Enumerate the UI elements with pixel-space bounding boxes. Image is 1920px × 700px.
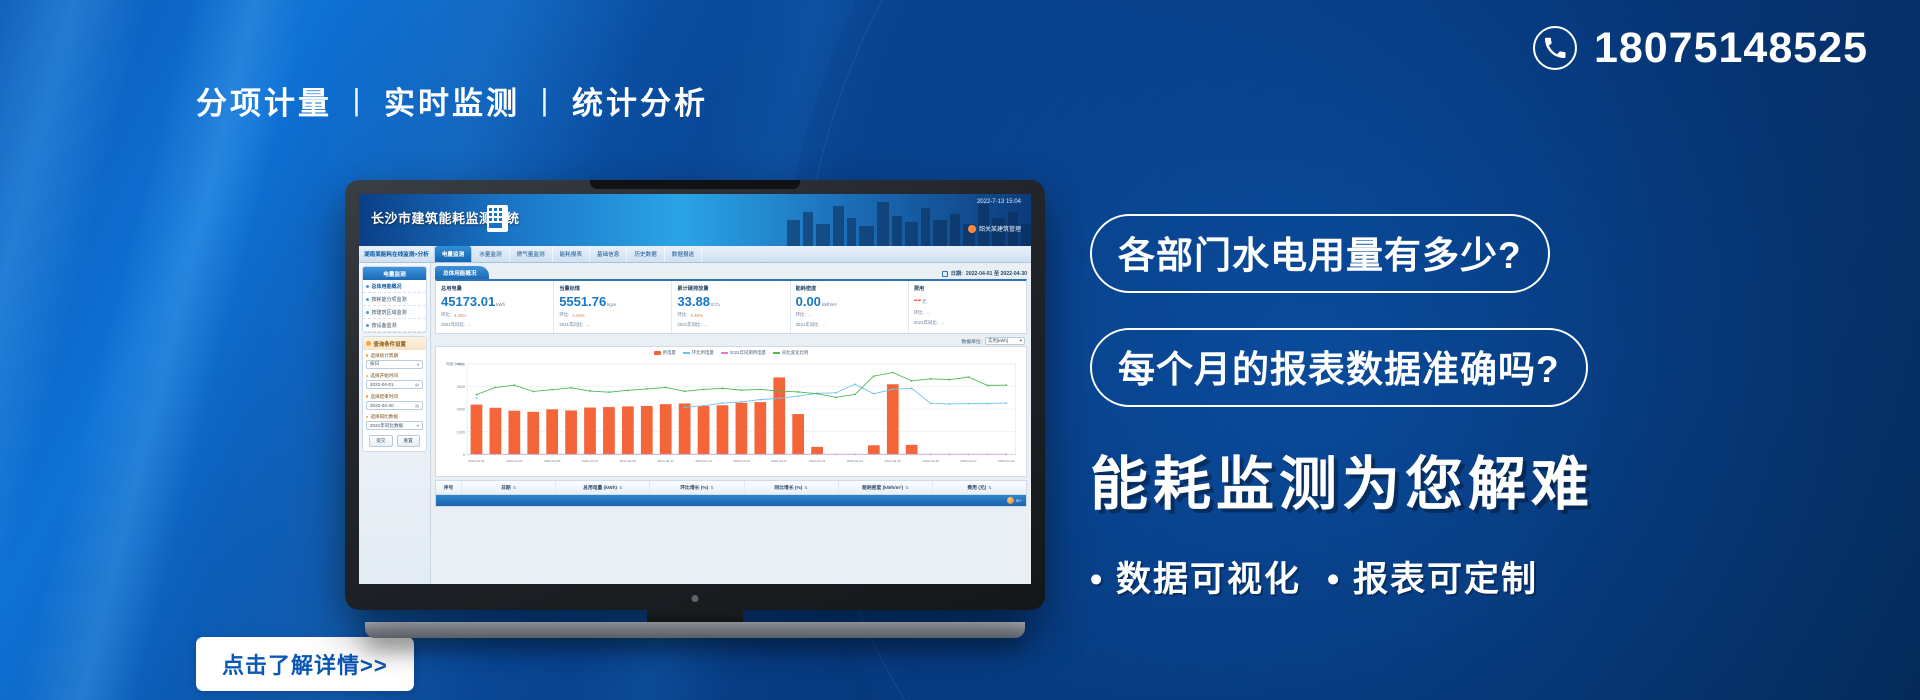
monitor-power-dot	[692, 595, 699, 602]
avatar	[968, 225, 976, 233]
sidebar-item-label: 按耗能分项监测	[372, 296, 407, 303]
svg-text:2022-04-11: 2022-04-11	[658, 459, 674, 463]
calendar-icon: ▤	[415, 382, 419, 387]
sort-icon[interactable]: ⇅	[804, 485, 807, 490]
browser-icon	[1007, 497, 1014, 504]
table-header-cell[interactable]: 总用电量 (kWh)⇅	[556, 481, 650, 494]
legend-swatch	[683, 352, 690, 354]
data-table: 序号日期⇅总用电量 (kWh)⇅环比增长 (%)⇅同比增长 (%)⇅能耗密度 (…	[435, 480, 1027, 507]
query-select-period[interactable]: 按日 ▾	[366, 360, 423, 369]
promo-banner: 18075148525 分项计量丨实时监测丨统计分析 各部门水电用量有多少? 每…	[0, 0, 1920, 700]
query-panel: 查询条件设置 选择统计周期 按日 ▾	[362, 336, 427, 452]
question-pill-1: 各部门水电用量有多少?	[1090, 214, 1550, 293]
chart-plot: 01000200030004000电量 (kWh)2022-04-012022-…	[440, 358, 1022, 474]
sidebar-item-by-device[interactable]: 按设备监测	[363, 319, 426, 332]
app-header: 长沙市建筑能耗监测系统 2022-7-13 15:04 韶关某建筑管理	[359, 194, 1031, 246]
sort-icon[interactable]: ⇅	[513, 485, 516, 490]
stat-value: --元	[914, 295, 1021, 306]
panel-tab-overview[interactable]: 总体用能概况	[435, 266, 489, 279]
stat-card-total-electricity: 总用电量 45173.01kWh 环比:4.46% 2021年同比:--	[436, 281, 554, 333]
phone-number: 18075148525	[1594, 27, 1868, 70]
bullet-icon	[366, 395, 368, 397]
table-header-cell[interactable]: 能耗密度 (kWh/m²)⇅	[839, 481, 933, 494]
date-range-display: 日期: 2022-04-01 至 2022-04-30	[942, 270, 1027, 279]
legend-label: 2021年同期用电量	[730, 350, 766, 356]
reset-button[interactable]: 重置	[397, 435, 420, 447]
query-label-start: 选择开始时间	[363, 371, 426, 381]
main-content: 总体用能概况 日期: 2022-04-01 至 2022-04-30 总用电量 …	[431, 263, 1031, 584]
sidebar-item-label: 按设备监测	[372, 322, 397, 329]
nav-tab-basic-info[interactable]: 基础信息	[590, 246, 627, 262]
calendar-icon: ▤	[415, 403, 419, 408]
sidebar: 电量监测 总体用能概况 按耗能分项监测 按建筑区域监	[359, 263, 431, 584]
banner-bullets: • 数据可视化• 报表可定制	[1090, 551, 1538, 602]
nav-tab-history[interactable]: 历史数据	[627, 246, 664, 262]
query-panel-header: 查询条件设置	[363, 337, 426, 350]
nav-brand: 湖南某能耗在线监测>分析	[359, 246, 435, 262]
table-header-cell[interactable]: 序号	[436, 481, 462, 494]
bullet-icon	[366, 354, 368, 356]
chevron-down-icon: ▾	[417, 423, 419, 428]
stat-value: 33.88tCO₂	[677, 295, 784, 308]
chevron-down-icon: ▾	[417, 362, 419, 367]
table-header-label: 日期	[501, 484, 511, 491]
monitor-notch	[590, 180, 800, 189]
stat-compare-yoy: 2021年同比:--	[677, 322, 784, 328]
svg-text:2000: 2000	[457, 408, 465, 412]
legend-swatch	[721, 352, 728, 354]
banner-headline: 能耗监测为您解难	[1090, 437, 1594, 521]
nav-tab-water[interactable]: 水量监测	[472, 246, 509, 262]
query-input-start-date[interactable]: 2022-04-01 ▤	[366, 380, 423, 389]
nav-tab-reports[interactable]: 能耗报表	[553, 246, 590, 262]
stat-compare-mom: 环比:4.46%	[441, 312, 548, 318]
svg-text:2022-04-25: 2022-04-25	[922, 459, 939, 463]
banner-kicker: 分项计量丨实时监测丨统计分析	[196, 78, 708, 123]
unit-select[interactable]: 实用[kWh] ▾	[985, 337, 1025, 345]
legend-item[interactable]: 同比变化比例	[773, 350, 808, 356]
bulb-icon	[366, 341, 371, 346]
submit-button[interactable]: 提交	[369, 435, 392, 447]
table-header-row: 序号日期⇅总用电量 (kWh)⇅环比增长 (%)⇅同比增长 (%)⇅能耗密度 (…	[436, 481, 1026, 495]
sidebar-header: 电量监测	[363, 267, 426, 280]
kicker-item-3: 统计分析	[572, 86, 708, 121]
app-user-name: 韶关某建筑管理	[979, 224, 1021, 233]
browser-badge: IE+	[1016, 498, 1022, 503]
svg-text:2022-04-17: 2022-04-17	[771, 459, 788, 463]
monitor-bezel: 长沙市建筑能耗监测系统 2022-7-13 15:04 韶关某建筑管理	[345, 180, 1045, 610]
legend-label: 同比变化比例	[782, 350, 808, 356]
legend-label: 环比用电量	[692, 350, 714, 356]
sidebar-item-by-category[interactable]: 按耗能分项监测	[363, 293, 426, 306]
stat-compare-mom: 环比:--	[796, 312, 903, 318]
stat-value: 45173.01kWh	[441, 295, 548, 308]
svg-text:2022-04-23: 2022-04-23	[885, 459, 902, 463]
svg-text:2022-04-13: 2022-04-13	[695, 459, 712, 463]
stat-card-standard-coal: 当量标煤 5551.76kgce 环比:4.46% 2021年同比:--	[554, 281, 672, 333]
bullet-icon	[366, 324, 369, 327]
stat-value: 0.00kWh/m²	[796, 295, 903, 308]
sort-icon[interactable]: ⇅	[905, 485, 908, 490]
chart-panel: 用电量环比用电量2021年同期用电量同比变化比例 010002000300040…	[435, 346, 1027, 477]
bullet-icon	[366, 298, 369, 301]
table-header-label: 费用 (元)	[967, 484, 986, 491]
query-input-end-date[interactable]: 2022-04-30 ▤	[366, 401, 423, 410]
table-header-cell[interactable]: 环比增长 (%)⇅	[650, 481, 744, 494]
legend-swatch	[654, 351, 661, 355]
stat-card-density: 能耗密度 0.00kWh/m² 环比:-- 2021年同比:--	[791, 281, 909, 333]
svg-text:2022-04-19: 2022-04-19	[809, 459, 826, 463]
app-nav: 湖南某能耗在线监测>分析 电量监测 水量监测 燃气量监测 能耗报表 基础信息 历…	[359, 246, 1031, 263]
kicker-item-1: 分项计量	[196, 86, 332, 121]
stat-compare-mom: 环比:--	[914, 310, 1021, 316]
query-label-yoy: 选择同比数据	[363, 412, 426, 422]
stat-compare-yoy: 2021年同比:--	[796, 322, 903, 328]
svg-text:2022-04-07: 2022-04-07	[582, 459, 599, 463]
kicker-sep-1: 丨	[332, 78, 384, 123]
decor-light-sweep-1	[0, 0, 200, 700]
nav-tab-electricity[interactable]: 电量监测	[435, 246, 472, 262]
sort-icon[interactable]: ⇅	[710, 485, 713, 490]
legend-item[interactable]: 2021年同期用电量	[721, 350, 766, 356]
svg-text:2022-04-05: 2022-04-05	[544, 459, 561, 463]
app-logo-icon	[487, 205, 508, 232]
stat-card-cost: 费用 --元 环比:-- 2021年同比:--	[909, 281, 1026, 333]
sidebar-item-label: 总体用能概况	[372, 283, 402, 290]
stat-compare-mom: 环比:4.46%	[559, 312, 666, 318]
table-header-label: 同比增长 (%)	[774, 484, 802, 491]
panel-tabbar: 总体用能概况 日期: 2022-04-01 至 2022-04-30	[435, 266, 1027, 279]
table-header-cell[interactable]: 费用 (元)⇅	[933, 481, 1026, 494]
stat-card-carbon: 累计碳排放量 33.88tCO₂ 环比:4.46% 2021年同比:--	[672, 281, 790, 333]
svg-text:1000: 1000	[457, 430, 465, 434]
unit-label: 数据单位:	[961, 338, 982, 345]
svg-text:2022-04-15: 2022-04-15	[733, 459, 750, 463]
chart-unit-bar: 数据单位: 实用[kWh] ▾	[435, 334, 1027, 346]
svg-text:2022-04-27: 2022-04-27	[960, 459, 977, 463]
table-header-label: 环比增长 (%)	[680, 484, 708, 491]
monitor-mockup: 长沙市建筑能耗监测系统 2022-7-13 15:04 韶关某建筑管理	[345, 180, 1045, 610]
query-actions: 提交 重置	[363, 432, 426, 451]
legend-item[interactable]: 环比用电量	[683, 350, 714, 356]
query-label-period: 选择统计周期	[363, 350, 426, 360]
stat-compare-mom: 环比:4.46%	[677, 312, 784, 318]
bullet-icon	[366, 285, 369, 288]
svg-text:2022-04-29: 2022-04-29	[998, 459, 1015, 463]
legend-label: 用电量	[663, 350, 676, 356]
sidebar-item-by-area[interactable]: 按建筑区域监测	[363, 306, 426, 319]
app-timestamp: 2022-7-13 15:04	[977, 199, 1021, 205]
legend-swatch	[773, 352, 780, 354]
table-header-cell[interactable]: 同比增长 (%)⇅	[745, 481, 839, 494]
svg-text:0: 0	[463, 453, 465, 457]
table-header-label: 序号	[444, 484, 454, 491]
query-panel-title: 查询条件设置	[374, 340, 406, 348]
query-label-end: 选择结束时间	[363, 391, 426, 401]
kicker-item-2: 实时监测	[384, 86, 520, 121]
phone-contact[interactable]: 18075148525	[1533, 26, 1868, 70]
svg-text:2022-04-09: 2022-04-09	[620, 459, 637, 463]
stat-compare-yoy: 2021年同比:--	[559, 322, 666, 328]
svg-text:3000: 3000	[457, 385, 465, 389]
stat-compare-yoy: 2021年同比:--	[914, 320, 1021, 326]
table-header-label: 总用电量 (kWh)	[583, 484, 617, 491]
table-header-cell[interactable]: 日期⇅	[462, 481, 556, 494]
cta-button[interactable]: 点击了解详情>>	[196, 637, 414, 691]
monitor-stand-base	[365, 622, 1025, 638]
query-select-yoy[interactable]: 2021年同比数据 ▾	[366, 421, 423, 430]
sidebar-item-overview[interactable]: 总体用能概况	[363, 280, 426, 293]
bullet-2: • 报表可定制	[1327, 560, 1538, 599]
nav-tab-gas[interactable]: 燃气量监测	[510, 246, 553, 262]
bullet-1: • 数据可视化	[1090, 560, 1301, 599]
legend-item[interactable]: 用电量	[654, 350, 676, 356]
sort-icon[interactable]: ⇅	[619, 485, 622, 490]
bullet-icon	[366, 416, 368, 418]
stat-cards: 总用电量 45173.01kWh 环比:4.46% 2021年同比:-- 当量标…	[435, 279, 1027, 334]
sort-icon[interactable]: ⇅	[988, 485, 991, 490]
question-pill-2: 每个月的报表数据准确吗?	[1090, 328, 1588, 407]
nav-tab-submit[interactable]: 数据报送	[665, 246, 702, 262]
app-body: 电量监测 总体用能概况 按耗能分项监测 按建筑区域监	[359, 263, 1031, 584]
bullet-icon	[366, 375, 368, 377]
chevron-down-icon: ▾	[1020, 338, 1022, 344]
sidebar-item-label: 按建筑区域监测	[372, 309, 407, 316]
energy-bar-chart: 01000200030004000电量 (kWh)2022-04-012022-…	[440, 358, 1022, 474]
date-range-value: 2022-04-01 至 2022-04-30	[966, 270, 1027, 277]
kicker-sep-2: 丨	[520, 78, 572, 123]
app-user[interactable]: 韶关某建筑管理	[968, 224, 1021, 233]
bullet-icon	[366, 311, 369, 314]
chart-legend: 用电量环比用电量2021年同期用电量同比变化比例	[440, 350, 1022, 356]
table-footer: IE+	[436, 495, 1026, 506]
svg-text:2022-04-01: 2022-04-01	[468, 459, 485, 463]
svg-text:2022-04-21: 2022-04-21	[847, 459, 864, 463]
svg-text:电量 (kWh): 电量 (kWh)	[446, 361, 463, 366]
sidebar-menu-card: 电量监测 总体用能概况 按耗能分项监测 按建筑区域监	[362, 266, 427, 333]
svg-text:2022-04-03: 2022-04-03	[506, 459, 523, 463]
phone-icon	[1533, 26, 1577, 70]
table-header-label: 能耗密度 (kWh/m²)	[862, 484, 903, 491]
stat-value: 5551.76kgce	[559, 295, 666, 308]
app-screen: 长沙市建筑能耗监测系统 2022-7-13 15:04 韶关某建筑管理	[359, 194, 1031, 584]
stat-compare-yoy: 2021年同比:--	[441, 322, 548, 328]
calendar-icon	[942, 271, 948, 277]
